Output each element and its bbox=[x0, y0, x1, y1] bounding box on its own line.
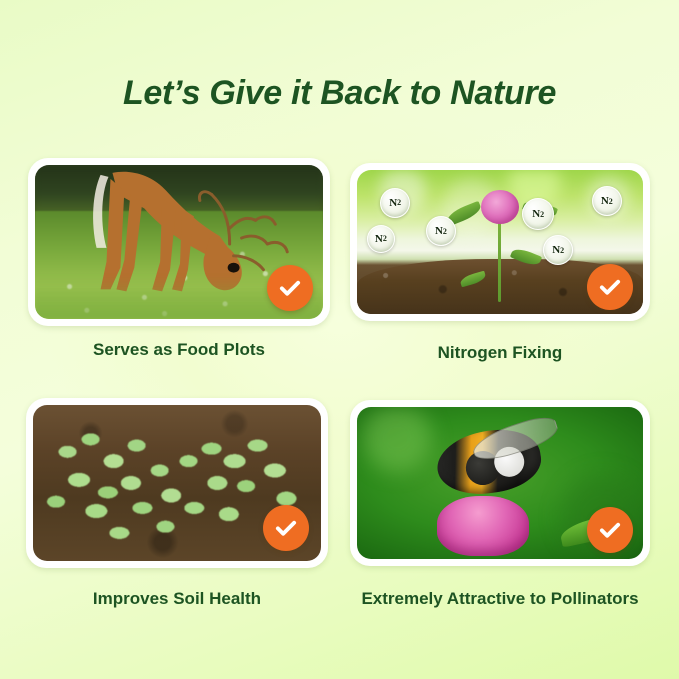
benefit-image-pollinators bbox=[357, 407, 643, 559]
benefit-image-nitrogen-fixing: N2 N2 N2 N2 N2 N2 bbox=[357, 170, 643, 314]
n2-bubble: N2 bbox=[380, 188, 410, 218]
n2-label: N bbox=[375, 233, 383, 245]
page-title: Let’s Give it Back to Nature bbox=[0, 74, 679, 113]
n2-subscript: 2 bbox=[443, 227, 447, 236]
n2-subscript: 2 bbox=[609, 197, 613, 206]
check-icon bbox=[273, 515, 299, 541]
check-badge-food-plots[interactable] bbox=[267, 265, 313, 311]
clover-stem bbox=[498, 222, 501, 303]
n2-subscript: 2 bbox=[540, 210, 544, 219]
card-frame bbox=[350, 400, 650, 566]
n2-label: N bbox=[552, 244, 560, 256]
infographic-root: Let’s Give it Back to Nature bbox=[0, 0, 679, 679]
n2-subscript: 2 bbox=[397, 198, 401, 207]
clover-blossom bbox=[481, 190, 519, 224]
n2-label: N bbox=[389, 197, 397, 209]
card-frame: N2 N2 N2 N2 N2 N2 bbox=[350, 163, 650, 321]
benefit-card-soil-health[interactable] bbox=[26, 398, 328, 568]
check-icon bbox=[277, 275, 303, 301]
benefit-card-nitrogen-fixing[interactable]: N2 N2 N2 N2 N2 N2 bbox=[350, 163, 650, 321]
clover-blossom bbox=[437, 496, 529, 556]
benefit-card-pollinators[interactable] bbox=[350, 400, 650, 566]
benefit-caption-soil-health: Improves Soil Health bbox=[26, 589, 328, 609]
n2-bubble: N2 bbox=[367, 225, 395, 253]
benefit-image-food-plots bbox=[35, 165, 323, 319]
benefit-caption-food-plots: Serves as Food Plots bbox=[28, 340, 330, 360]
card-frame bbox=[28, 158, 330, 326]
check-badge-pollinators[interactable] bbox=[587, 507, 633, 553]
n2-bubble: N2 bbox=[592, 186, 622, 216]
check-icon bbox=[597, 517, 623, 543]
benefit-image-soil-health bbox=[33, 405, 321, 561]
check-icon bbox=[597, 274, 623, 300]
n2-label: N bbox=[601, 195, 609, 207]
check-badge-nitrogen-fixing[interactable] bbox=[587, 264, 633, 310]
benefit-caption-pollinators: Extremely Attractive to Pollinators bbox=[344, 589, 656, 609]
n2-label: N bbox=[435, 225, 443, 237]
card-frame bbox=[26, 398, 328, 568]
n2-subscript: 2 bbox=[383, 234, 387, 243]
check-badge-soil-health[interactable] bbox=[263, 505, 309, 551]
benefit-caption-nitrogen-fixing: Nitrogen Fixing bbox=[350, 343, 650, 363]
n2-label: N bbox=[532, 208, 540, 220]
benefit-card-food-plots[interactable] bbox=[28, 158, 330, 326]
n2-subscript: 2 bbox=[560, 246, 564, 255]
